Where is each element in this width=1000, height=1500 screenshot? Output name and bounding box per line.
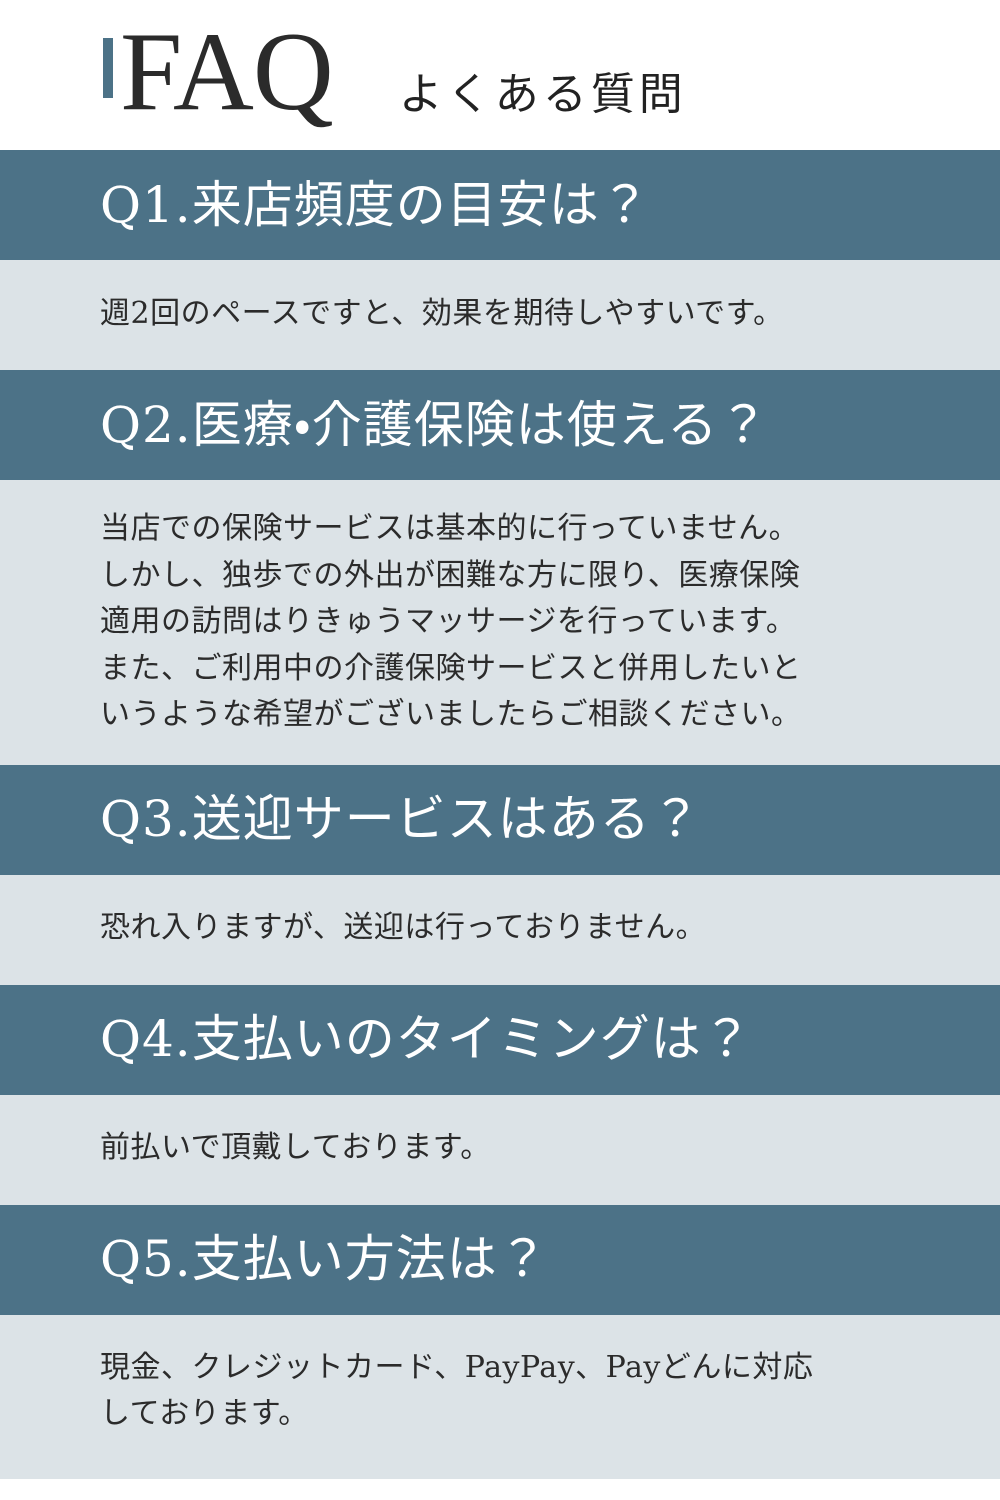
faq-question-text: Q2.医療・介護保険は使える？ (100, 398, 769, 453)
faq-list: Q1.来店頻度の目安は？ 週2回のペースですと、効果を期待しやすいです。 Q2.… (0, 150, 1000, 1479)
faq-item: Q5.支払い方法は？ 現金、クレジットカード、PayPay、Payどんに対応 し… (0, 1205, 1000, 1479)
faq-question-bar[interactable]: Q1.来店頻度の目安は？ (0, 150, 1000, 260)
faq-question-text: Q4.支払いのタイミングは？ (100, 1012, 753, 1067)
faq-header: FAQ よくある質問 (0, 0, 1000, 150)
faq-question-bar[interactable]: Q2.医療・介護保険は使える？ (0, 370, 1000, 480)
faq-question-text: Q3.送迎サービスはある？ (100, 792, 702, 847)
faq-question-bar[interactable]: Q5.支払い方法は？ (0, 1205, 1000, 1315)
faq-answer-text: 当店での保険サービスは基本的に行っていません。 しかし、独歩での外出が困難な方に… (100, 506, 802, 739)
faq-answer-text: 週2回のペースですと、効果を期待しやすいです。 (100, 291, 784, 338)
faq-item: Q1.来店頻度の目安は？ 週2回のペースですと、効果を期待しやすいです。 (0, 150, 1000, 370)
faq-answer-box: 恐れ入りますが、送迎は行っておりません。 (0, 875, 1000, 985)
faq-answer-text: 現金、クレジットカード、PayPay、Payどんに対応 しております。 (100, 1345, 813, 1438)
page-subtitle: よくある質問 (399, 58, 687, 122)
faq-question-bar[interactable]: Q3.送迎サービスはある？ (0, 765, 1000, 875)
faq-answer-text: 恐れ入りますが、送迎は行っておりません。 (100, 905, 706, 952)
faq-answer-box: 週2回のペースですと、効果を期待しやすいです。 (0, 260, 1000, 370)
faq-question-text: Q1.来店頻度の目安は？ (100, 178, 651, 233)
faq-answer-box: 当店での保険サービスは基本的に行っていません。 しかし、独歩での外出が困難な方に… (0, 480, 1000, 765)
faq-page: FAQ よくある質問 Q1.来店頻度の目安は？ 週2回のペースですと、効果を期待… (0, 0, 1000, 1500)
faq-item: Q2.医療・介護保険は使える？ 当店での保険サービスは基本的に行っていません。 … (0, 370, 1000, 765)
faq-question-text: Q5.支払い方法は？ (100, 1232, 549, 1287)
faq-title-group: FAQ よくある質問 (103, 27, 687, 150)
accent-bar-icon (103, 38, 113, 98)
faq-item: Q4.支払いのタイミングは？ 前払いで頂戴しております。 (0, 985, 1000, 1205)
faq-item: Q3.送迎サービスはある？ 恐れ入りますが、送迎は行っておりません。 (0, 765, 1000, 985)
faq-question-bar[interactable]: Q4.支払いのタイミングは？ (0, 985, 1000, 1095)
faq-answer-text: 前払いで頂戴しております。 (100, 1125, 491, 1172)
faq-answer-box: 前払いで頂戴しております。 (0, 1095, 1000, 1205)
faq-answer-box: 現金、クレジットカード、PayPay、Payどんに対応 しております。 (0, 1315, 1000, 1479)
page-title: FAQ (120, 27, 333, 119)
